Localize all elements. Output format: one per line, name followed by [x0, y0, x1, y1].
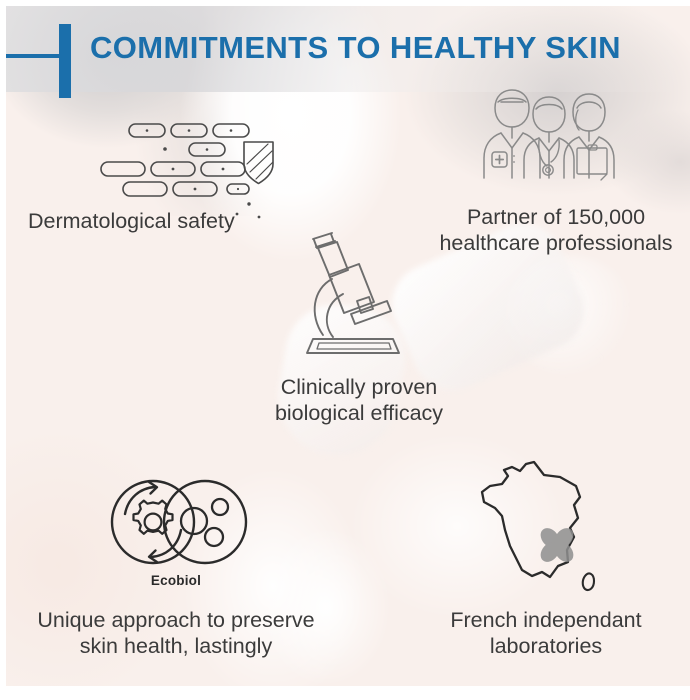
label-ecobiology: Unique approach to preserve skin health,…: [16, 607, 336, 659]
label-clinical-efficacy: Clinically proven biological efficacy: [224, 374, 494, 426]
background-product-bottle-3: [506, 256, 636, 376]
commitments-infographic: COMMITMENTS TO HEALTHY SKIN: [0, 0, 690, 700]
logo-vertical-bar: [59, 24, 71, 98]
ecobiology-cells-gear-icon: [109, 474, 249, 570]
infographic-card: COMMITMENTS TO HEALTHY SKIN: [6, 6, 690, 686]
naos-bar-logo-icon: [26, 24, 76, 98]
microscope-icon: [291, 231, 411, 359]
healthcare-professionals-icon: [481, 86, 621, 184]
label-healthcare-partner: Partner of 150,000 healthcare profession…: [421, 204, 690, 256]
logo-horizontal-rule: [6, 54, 62, 58]
ecobiol-caption: Ecobiol: [106, 573, 246, 588]
background-fabric-sweep-2: [236, 526, 436, 686]
label-dermatological-safety: Dermatological safety: [28, 208, 308, 234]
france-map-icon: [472, 458, 604, 598]
page-title: COMMITMENTS TO HEALTHY SKIN: [90, 30, 621, 66]
label-french-labs: French independant laboratories: [406, 607, 686, 659]
